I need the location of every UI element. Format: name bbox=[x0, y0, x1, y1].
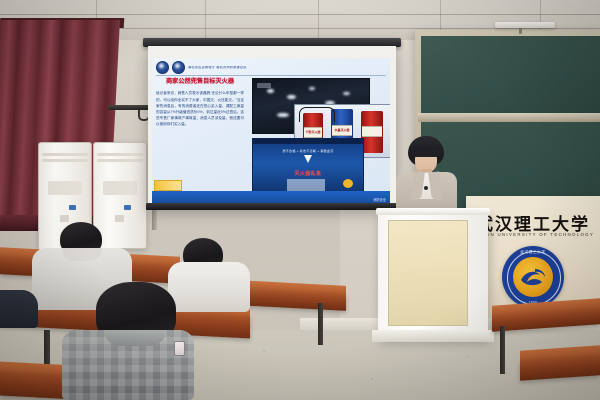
slide-title: 商家公然兜售目标灭火器 bbox=[156, 78, 244, 86]
slide-video-bottom: 质不合格 + 标志不清晰 + 销量虚高 灭火器乱象 bbox=[252, 138, 364, 194]
board-light-arm bbox=[519, 27, 522, 34]
presentation-slide: 湖北省应急管理厅 湖北省消防救援总队 商家公然兜售目标灭火器 经记者采访，销售人… bbox=[152, 58, 390, 205]
smartphone[interactable] bbox=[174, 341, 185, 356]
organization-logo-icon bbox=[172, 61, 185, 74]
university-emblem: 武汉理工大学 1898 bbox=[502, 246, 564, 308]
blackboard-upper bbox=[421, 36, 600, 114]
slide-video-caption-red: 灭火器乱象 bbox=[253, 170, 363, 177]
student-body-white-top bbox=[168, 262, 250, 312]
student-shoulder-dark bbox=[0, 290, 38, 328]
slide-body-text: 经记者采访，销售人员表示该器具“无论什么车型都一样的，可以给你全买不了大家，中国… bbox=[156, 90, 244, 127]
down-arrow-icon bbox=[304, 155, 312, 163]
video-timestamp-overlay bbox=[257, 83, 271, 88]
podium-base bbox=[372, 330, 494, 342]
lecture-hall-photo: 湖北省应急管理厅 湖北省消防救援总队 商家公然兜售目标灭火器 经记者采访，销售人… bbox=[0, 0, 600, 400]
slide-footer-text: 消防安全 bbox=[373, 197, 386, 202]
product-label-red: 干粉灭火器 bbox=[304, 128, 322, 137]
presenter-badge bbox=[424, 186, 428, 190]
presenter-fringe bbox=[411, 146, 441, 157]
slide-video-caption-white: 质不合格 + 标志不清晰 + 销量虚高 bbox=[253, 148, 363, 153]
slide-header-text: 湖北省应急管理厅 湖北省消防救援总队 bbox=[188, 66, 247, 70]
extinguisher-hose-icon bbox=[299, 107, 335, 122]
podium-front-panel bbox=[388, 220, 468, 326]
fire-extinguisher-red-2 bbox=[361, 111, 383, 153]
desk-leg bbox=[318, 303, 323, 345]
podium-top-surface bbox=[376, 208, 490, 215]
video-title-bar bbox=[253, 139, 363, 144]
emblem-text-cn: 武汉理工大学 bbox=[502, 250, 564, 255]
hoodie-collar bbox=[62, 248, 102, 261]
air-conditioner-right bbox=[93, 142, 147, 249]
slide-header-divider bbox=[156, 75, 386, 76]
nozzle-icon bbox=[343, 179, 353, 188]
jacket-collar bbox=[104, 330, 166, 346]
ceiling-tile-line bbox=[0, 14, 600, 15]
slide-media-column: 干粉灭火器 水基灭火器 质不合格 + 标志不清晰 + 销量虚高 bbox=[248, 78, 387, 189]
presenter bbox=[392, 136, 460, 216]
desk-leg bbox=[500, 326, 505, 374]
slide-header: 湖北省应急管理厅 湖北省消防救援总队 bbox=[156, 61, 386, 74]
chalk-rail bbox=[418, 113, 600, 122]
slide-footer-accent bbox=[154, 180, 182, 191]
projection-screen-bottom-bar bbox=[146, 203, 398, 210]
organization-logo-icon bbox=[156, 61, 169, 74]
product-label-blue: 水基灭火器 bbox=[332, 126, 352, 135]
board-light-fixture bbox=[495, 22, 555, 28]
emblem-wave-icon bbox=[518, 266, 548, 288]
slide-text-column: 商家公然兜售目标灭火器 经记者采访，销售人员表示该器具“无论什么车型都一样的，可… bbox=[156, 78, 244, 189]
